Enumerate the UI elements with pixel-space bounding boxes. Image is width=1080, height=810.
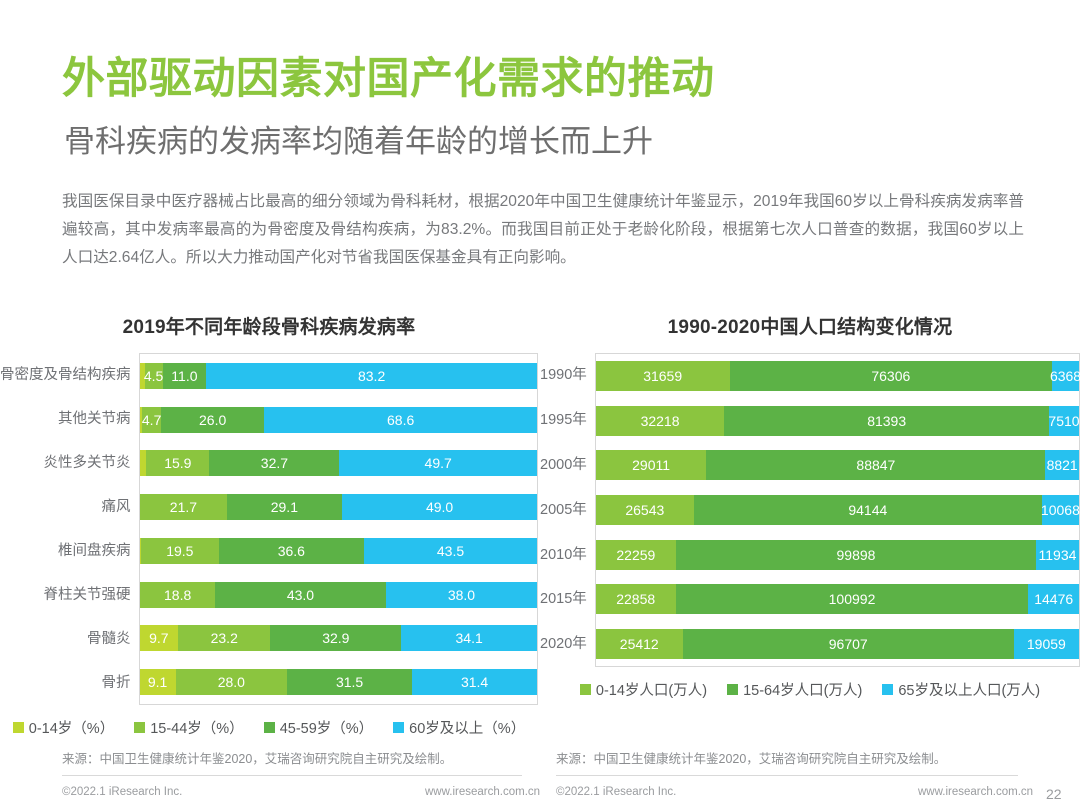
legend-label: 0-14岁（%） bbox=[29, 717, 114, 738]
bar-value-label: 31.5 bbox=[336, 675, 363, 689]
bar-row: 254129670719059 bbox=[596, 629, 1079, 659]
chart-body-disease-incidence: 骨密度及骨结构疾病其他关节病炎性多关节炎痛风椎间盘疾病脊柱关节强硬骨髓炎骨折 4… bbox=[0, 353, 538, 705]
bar-segment: 32.7 bbox=[209, 450, 339, 476]
bar-value-label: 43.0 bbox=[287, 588, 314, 602]
bar-value-label: 29.1 bbox=[271, 500, 298, 514]
divider-left bbox=[62, 775, 522, 776]
bar-row: 18.843.038.0 bbox=[140, 582, 538, 608]
footer-copyright-left: ©2022.1 iResearch Inc. bbox=[62, 786, 182, 798]
bar-segment: 28.0 bbox=[176, 669, 287, 695]
chart-panel-disease-incidence: 2019年不同年龄段骨科疾病发病率 骨密度及骨结构疾病其他关节病炎性多关节炎痛风… bbox=[0, 312, 538, 738]
bar-value-label: 99898 bbox=[837, 548, 876, 562]
legend-item[interactable]: 45-59岁（%） bbox=[264, 717, 373, 738]
legend-item[interactable]: 60岁及以上（%） bbox=[393, 717, 525, 738]
bar-row: 4.511.083.2 bbox=[140, 363, 538, 389]
bar-segment: 99898 bbox=[676, 540, 1036, 570]
legend-item[interactable]: 15-64岁人口(万人) bbox=[727, 679, 862, 700]
bar-value-label: 32.9 bbox=[322, 631, 349, 645]
category-label: 骨密度及骨结构疾病 bbox=[0, 354, 131, 396]
bar-segment: 11.0 bbox=[163, 363, 207, 389]
bar-segment: 4.7 bbox=[142, 407, 161, 433]
bar-value-label: 28.0 bbox=[218, 675, 245, 689]
footer-url-left[interactable]: www.iresearch.com.cn bbox=[425, 786, 540, 798]
bar-value-label: 49.0 bbox=[426, 500, 453, 514]
chart-title-population-structure: 1990-2020中国人口结构变化情况 bbox=[540, 312, 1080, 339]
legend-label: 0-14岁人口(万人) bbox=[596, 679, 707, 700]
bar-value-label: 96707 bbox=[829, 637, 868, 651]
chart-body-population-structure: 1990年1995年2000年2005年2010年2015年2020年 3165… bbox=[540, 353, 1080, 667]
bar-segment: 32218 bbox=[596, 406, 725, 436]
bar-segment: 9.1 bbox=[140, 669, 176, 695]
legend-label: 45-59岁（%） bbox=[280, 717, 373, 738]
legend-item[interactable]: 65岁及以上人口(万人) bbox=[882, 679, 1040, 700]
bar-value-label: 38.0 bbox=[448, 588, 475, 602]
chart-panel-population-structure: 1990-2020中国人口结构变化情况 1990年1995年2000年2005年… bbox=[540, 312, 1080, 700]
bar-value-label: 22858 bbox=[616, 592, 655, 606]
bar-value-label: 49.7 bbox=[425, 456, 452, 470]
bar-segment: 43.5 bbox=[364, 538, 537, 564]
bar-value-label: 10068 bbox=[1041, 503, 1080, 517]
bar-value-label: 11934 bbox=[1039, 548, 1077, 562]
source-note-right: 来源：中国卫生健康统计年鉴2020，艾瑞咨询研究院自主研究及绘制。 bbox=[556, 748, 946, 767]
bar-segment bbox=[140, 450, 147, 476]
bar-segment: 29.1 bbox=[227, 494, 343, 520]
bar-value-label: 8821 bbox=[1047, 458, 1078, 472]
category-label: 1990年 bbox=[540, 354, 587, 397]
bar-segment: 8821 bbox=[1045, 450, 1079, 480]
legend-swatch bbox=[727, 684, 738, 695]
legend-label: 60岁及以上（%） bbox=[409, 717, 525, 738]
bar-value-label: 94144 bbox=[848, 503, 887, 517]
plot-area-disease-incidence: 4.511.083.24.726.068.615.932.749.721.729… bbox=[139, 353, 539, 705]
bar-segment: 6368 bbox=[1052, 361, 1079, 391]
source-note-left: 来源：中国卫生健康统计年鉴2020，艾瑞咨询研究院自主研究及绘制。 bbox=[62, 748, 452, 767]
bar-value-label: 22259 bbox=[616, 548, 655, 562]
legend-swatch bbox=[264, 722, 275, 733]
bar-segment: 26543 bbox=[596, 495, 694, 525]
bar-value-label: 31659 bbox=[643, 369, 682, 383]
bar-value-label: 21.7 bbox=[170, 500, 197, 514]
legend-swatch bbox=[393, 722, 404, 733]
bar-segment: 10068 bbox=[1042, 495, 1079, 525]
bar-segment: 76306 bbox=[730, 361, 1053, 391]
category-label: 2000年 bbox=[540, 444, 587, 487]
bar-segment: 94144 bbox=[694, 495, 1042, 525]
bar-value-label: 4.5 bbox=[144, 369, 163, 383]
category-label: 痛风 bbox=[0, 486, 131, 528]
bar-segment: 4.5 bbox=[145, 363, 163, 389]
bar-segment: 22858 bbox=[596, 584, 676, 614]
bar-segment: 19059 bbox=[1014, 629, 1079, 659]
category-label: 2010年 bbox=[540, 533, 587, 576]
bar-row: 9.128.031.531.4 bbox=[140, 669, 538, 695]
bar-segment: 15.9 bbox=[146, 450, 209, 476]
chart-title-disease-incidence: 2019年不同年龄段骨科疾病发病率 bbox=[0, 312, 538, 339]
bar-segment: 38.0 bbox=[386, 582, 537, 608]
bar-row: 222599989811934 bbox=[596, 540, 1079, 570]
bar-row: 31659763066368 bbox=[596, 361, 1079, 391]
bar-value-label: 7510 bbox=[1048, 414, 1079, 428]
category-label: 2020年 bbox=[540, 623, 587, 666]
bar-row: 4.726.068.6 bbox=[140, 407, 538, 433]
bar-value-label: 83.2 bbox=[358, 369, 385, 383]
bar-segment: 26.0 bbox=[161, 407, 264, 433]
bar-value-label: 31.4 bbox=[461, 675, 488, 689]
bar-value-label: 36.6 bbox=[278, 544, 305, 558]
category-label: 骨折 bbox=[0, 662, 131, 704]
bar-segment: 31.4 bbox=[412, 669, 537, 695]
bar-segment: 32.9 bbox=[270, 625, 401, 651]
legend-swatch bbox=[13, 722, 24, 733]
bar-value-label: 14476 bbox=[1034, 592, 1073, 606]
bar-row: 29011888478821 bbox=[596, 450, 1079, 480]
bar-value-label: 19.5 bbox=[166, 544, 193, 558]
bar-segment: 14476 bbox=[1028, 584, 1079, 614]
bar-value-label: 68.6 bbox=[387, 413, 414, 427]
page-number: 22 bbox=[1046, 786, 1062, 802]
bar-value-label: 23.2 bbox=[211, 631, 238, 645]
bar-segment: 7510 bbox=[1049, 406, 1079, 436]
bar-segment: 31659 bbox=[596, 361, 730, 391]
bar-value-label: 26543 bbox=[625, 503, 664, 517]
bar-value-label: 25412 bbox=[620, 637, 659, 651]
divider-right bbox=[556, 775, 1018, 776]
bar-row: 15.932.749.7 bbox=[140, 450, 538, 476]
footer-url-right[interactable]: www.iresearch.com.cn bbox=[918, 786, 1033, 798]
bar-row: 9.723.232.934.1 bbox=[140, 625, 538, 651]
bar-row: 32218813937510 bbox=[596, 406, 1079, 436]
category-label: 炎性多关节炎 bbox=[0, 442, 131, 484]
category-label: 椎间盘疾病 bbox=[0, 530, 131, 572]
bar-row: 19.536.643.5 bbox=[140, 538, 538, 564]
bar-value-label: 34.1 bbox=[456, 631, 483, 645]
bar-segment: 34.1 bbox=[401, 625, 537, 651]
bar-value-label: 43.5 bbox=[437, 544, 464, 558]
bar-value-label: 6368 bbox=[1050, 369, 1080, 383]
bar-segment: 29011 bbox=[596, 450, 707, 480]
bar-segment: 25412 bbox=[596, 629, 683, 659]
page-subtitle: 骨科疾病的发病率均随着年龄的增长而上升 bbox=[64, 126, 653, 159]
bar-value-label: 15.9 bbox=[164, 456, 191, 470]
bar-value-label: 9.1 bbox=[148, 675, 167, 689]
bar-segment: 43.0 bbox=[215, 582, 386, 608]
bar-value-label: 100992 bbox=[829, 592, 876, 606]
bar-value-label: 19059 bbox=[1027, 637, 1066, 651]
legend-label: 15-64岁人口(万人) bbox=[743, 679, 862, 700]
bar-value-label: 32.7 bbox=[261, 456, 288, 470]
bar-value-label: 29011 bbox=[632, 458, 670, 472]
bar-value-label: 88847 bbox=[856, 458, 895, 472]
bar-segment: 18.8 bbox=[140, 582, 215, 608]
bar-segment: 36.6 bbox=[219, 538, 364, 564]
bar-segment: 49.7 bbox=[339, 450, 537, 476]
category-label: 1995年 bbox=[540, 399, 587, 442]
bar-row: 21.729.149.0 bbox=[140, 494, 538, 520]
bar-segment: 96707 bbox=[683, 629, 1014, 659]
bar-segment: 11934 bbox=[1036, 540, 1079, 570]
intro-paragraph: 我国医保目录中医疗器械占比最高的细分领域为骨科耗材，根据2020年中国卫生健康统… bbox=[62, 188, 1024, 271]
bar-row: 265439414410068 bbox=[596, 495, 1079, 525]
category-axis-disease-incidence: 骨密度及骨结构疾病其他关节病炎性多关节炎痛风椎间盘疾病脊柱关节强硬骨髓炎骨折 bbox=[0, 353, 139, 705]
category-label: 脊柱关节强硬 bbox=[0, 574, 131, 616]
legend-label: 65岁及以上人口(万人) bbox=[898, 679, 1040, 700]
bar-segment: 81393 bbox=[724, 406, 1049, 436]
bar-segment: 31.5 bbox=[287, 669, 412, 695]
bar-value-label: 9.7 bbox=[149, 631, 168, 645]
bar-segment: 22259 bbox=[596, 540, 676, 570]
bar-segment: 9.7 bbox=[140, 625, 179, 651]
legend-swatch bbox=[134, 722, 145, 733]
legend-swatch bbox=[882, 684, 893, 695]
bar-value-label: 4.7 bbox=[142, 413, 161, 427]
category-label: 2005年 bbox=[540, 488, 587, 531]
legend-swatch bbox=[580, 684, 591, 695]
bar-segment: 21.7 bbox=[140, 494, 226, 520]
bar-value-label: 81393 bbox=[867, 414, 906, 428]
bar-segment: 100992 bbox=[676, 584, 1029, 614]
bar-segment: 83.2 bbox=[206, 363, 537, 389]
bar-segment: 88847 bbox=[706, 450, 1045, 480]
category-label: 骨髓炎 bbox=[0, 618, 131, 660]
legend-population-structure: 0-14岁人口(万人)15-64岁人口(万人)65岁及以上人口(万人) bbox=[540, 679, 1080, 700]
bar-value-label: 76306 bbox=[871, 369, 910, 383]
bar-segment: 68.6 bbox=[264, 407, 537, 433]
legend-label: 15-44岁（%） bbox=[150, 717, 243, 738]
bar-row: 2285810099214476 bbox=[596, 584, 1079, 614]
bar-value-label: 32218 bbox=[641, 414, 680, 428]
category-axis-population-structure: 1990年1995年2000年2005年2010年2015年2020年 bbox=[540, 353, 595, 667]
page-title: 外部驱动因素对国产化需求的推动 bbox=[62, 57, 715, 102]
category-label: 其他关节病 bbox=[0, 398, 131, 440]
category-label: 2015年 bbox=[540, 578, 587, 621]
bar-value-label: 18.8 bbox=[164, 588, 191, 602]
bar-segment: 23.2 bbox=[178, 625, 270, 651]
bar-segment: 49.0 bbox=[342, 494, 537, 520]
plot-area-population-structure: 3165976306636832218813937510290118884788… bbox=[595, 353, 1080, 667]
legend-item[interactable]: 0-14岁（%） bbox=[13, 717, 114, 738]
bar-segment: 19.5 bbox=[141, 538, 219, 564]
legend-item[interactable]: 15-44岁（%） bbox=[134, 717, 243, 738]
legend-disease-incidence: 0-14岁（%）15-44岁（%）45-59岁（%）60岁及以上（%） bbox=[0, 717, 538, 738]
bar-value-label: 26.0 bbox=[199, 413, 226, 427]
footer-copyright-right: ©2022.1 iResearch Inc. bbox=[556, 786, 676, 798]
bar-value-label: 11.0 bbox=[171, 369, 197, 383]
legend-item[interactable]: 0-14岁人口(万人) bbox=[580, 679, 707, 700]
